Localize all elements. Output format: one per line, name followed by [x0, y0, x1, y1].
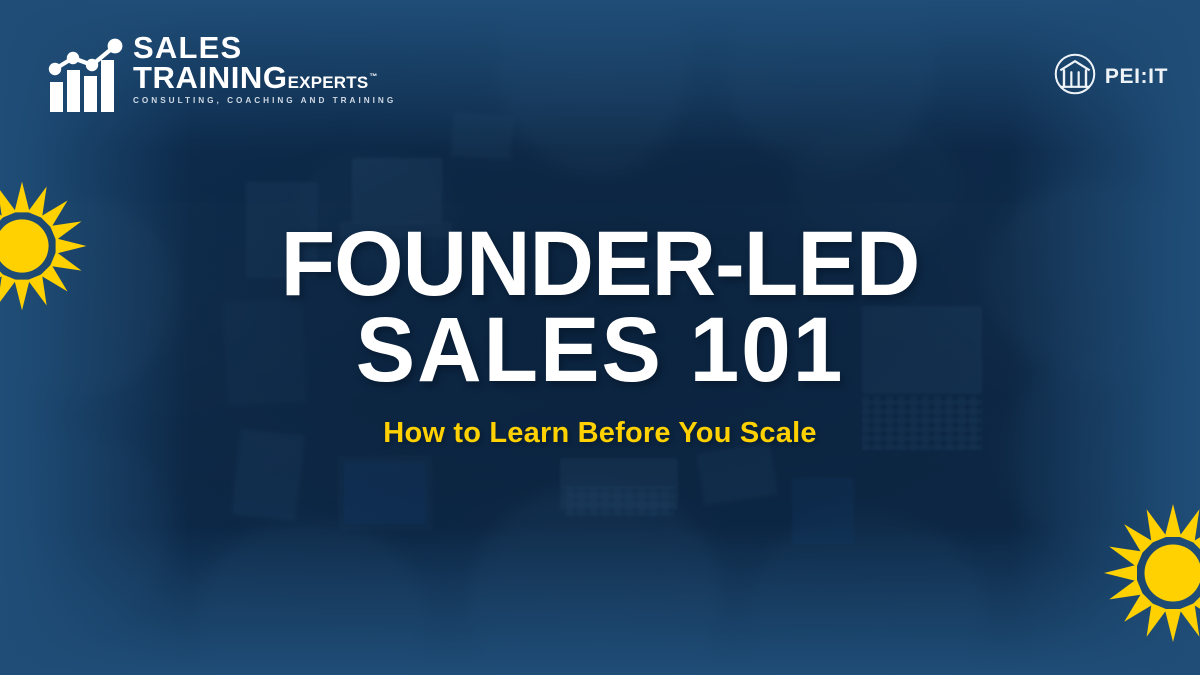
brand-word-training: TRAINING: [133, 63, 288, 92]
circular-arch-emblem-icon: [1053, 52, 1097, 101]
trademark-symbol: ™: [369, 73, 377, 81]
partner-name: PEI:IT: [1105, 65, 1168, 89]
title-block: FOUNDER-LED SALES 101 How to Learn Befor…: [0, 222, 1200, 450]
brand-logo[interactable]: SALES TRAININGEXPERTS™ CONSULTING, COACH…: [46, 34, 396, 119]
presentation-slide: SALES TRAININGEXPERTS™ CONSULTING, COACH…: [0, 0, 1200, 675]
partner-logo[interactable]: PEI:IT: [1053, 52, 1168, 101]
brand-word-experts: EXPERTS: [288, 75, 369, 91]
brand-wordmark: SALES TRAININGEXPERTS™ CONSULTING, COACH…: [133, 34, 396, 105]
brand-tagline: CONSULTING, COACHING AND TRAINING: [133, 97, 396, 105]
brand-line-training-experts: TRAININGEXPERTS™: [133, 63, 396, 92]
headline-line-1: FOUNDER-LED: [18, 222, 1182, 308]
headline-line-2: SALES 101: [18, 308, 1182, 394]
brand-line-sales: SALES: [133, 34, 396, 63]
subtitle: How to Learn Before You Scale: [0, 417, 1200, 450]
bar-chart-line-graph-icon: [46, 36, 124, 119]
